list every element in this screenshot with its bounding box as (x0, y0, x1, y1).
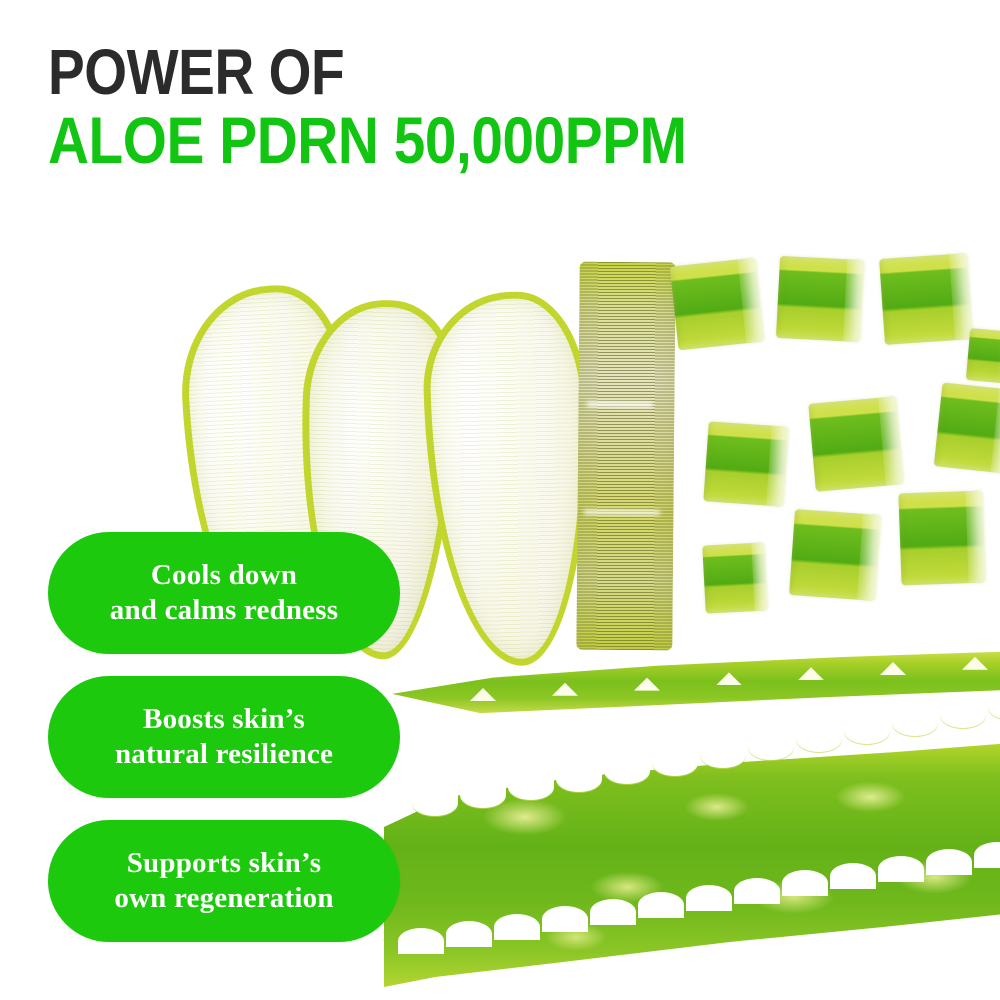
aloe-cube-8 (702, 542, 767, 613)
benefit-badge-list: Cools down and calms redness Boosts skin… (48, 532, 400, 964)
aloe-leaf-large-spine-top (844, 718, 890, 744)
aloe-leaf-large-spine-top (892, 710, 938, 736)
aloe-fillet-slice-3 (421, 290, 595, 668)
aloe-leaf-large-spine-bottom (542, 906, 588, 932)
headline-line-2: ALOE PDRN 50,000PPM (48, 109, 686, 172)
aloe-leaf-large-spine-bottom (734, 878, 780, 904)
aloe-leaf-large-spine-bottom (686, 885, 732, 911)
aloe-leaf-large-spine-top (700, 742, 746, 768)
aloe-leaf-large-spine-top (508, 774, 554, 800)
aloe-leaf-large-spine-bottom (926, 849, 972, 875)
aloe-striped-segment (576, 262, 675, 651)
aloe-leaf-large-spine-top (556, 766, 602, 792)
aloe-leaf-large-spine-top (940, 702, 986, 728)
benefit-badge-1: Cools down and calms redness (48, 532, 400, 654)
aloe-leaf-large-spine-top (988, 694, 1000, 720)
aloe-cube-3 (879, 253, 973, 345)
benefit-badge-3: Supports skin’s own regeneration (48, 820, 400, 942)
aloe-cube-1 (670, 258, 764, 351)
aloe-leaf-large-spine-top (412, 790, 458, 816)
benefit-badge-2-label: Boosts skin’s natural resilience (101, 702, 347, 773)
benefit-badge-3-label: Supports skin’s own regeneration (100, 846, 347, 917)
aloe-leaf-large-spine-top (748, 734, 794, 760)
aloe-cube-4 (966, 328, 1000, 384)
aloe-leaf-large-spine-bottom (782, 870, 828, 896)
aloe-cube-9 (789, 509, 881, 601)
aloe-leaf-large-spine-bottom (590, 899, 636, 925)
aloe-leaf-large-spine-top (652, 750, 698, 776)
aloe-leaf-large-spine-bottom (446, 921, 492, 947)
aloe-cube-5 (703, 421, 788, 506)
benefit-badge-1-label: Cools down and calms redness (96, 558, 352, 629)
headline: POWER OF ALOE PDRN 50,000PPM (48, 42, 790, 173)
aloe-leaf-large-spine-bottom (398, 928, 444, 954)
benefit-badge-2: Boosts skin’s natural resilience (48, 676, 400, 798)
aloe-cube-6 (808, 396, 903, 491)
aloe-cube-10 (898, 491, 985, 586)
headline-line-1: POWER OF (48, 42, 686, 103)
aloe-cube-7 (934, 382, 1000, 473)
aloe-leaf-large-spine-top (460, 782, 506, 808)
aloe-leaf-large-spine-top (796, 726, 842, 752)
aloe-promo-poster: POWER OF ALOE PDRN 50,000PPM Cools down … (0, 0, 1000, 1000)
aloe-leaf-large-spine-bottom (494, 914, 540, 940)
aloe-leaf-large-spine-bottom (830, 863, 876, 889)
aloe-leaf-large-spine-top (604, 758, 650, 784)
aloe-leaf-large-spine-bottom (878, 856, 924, 882)
aloe-leaf-large-spine-bottom (638, 892, 684, 918)
aloe-cube-2 (776, 256, 864, 342)
